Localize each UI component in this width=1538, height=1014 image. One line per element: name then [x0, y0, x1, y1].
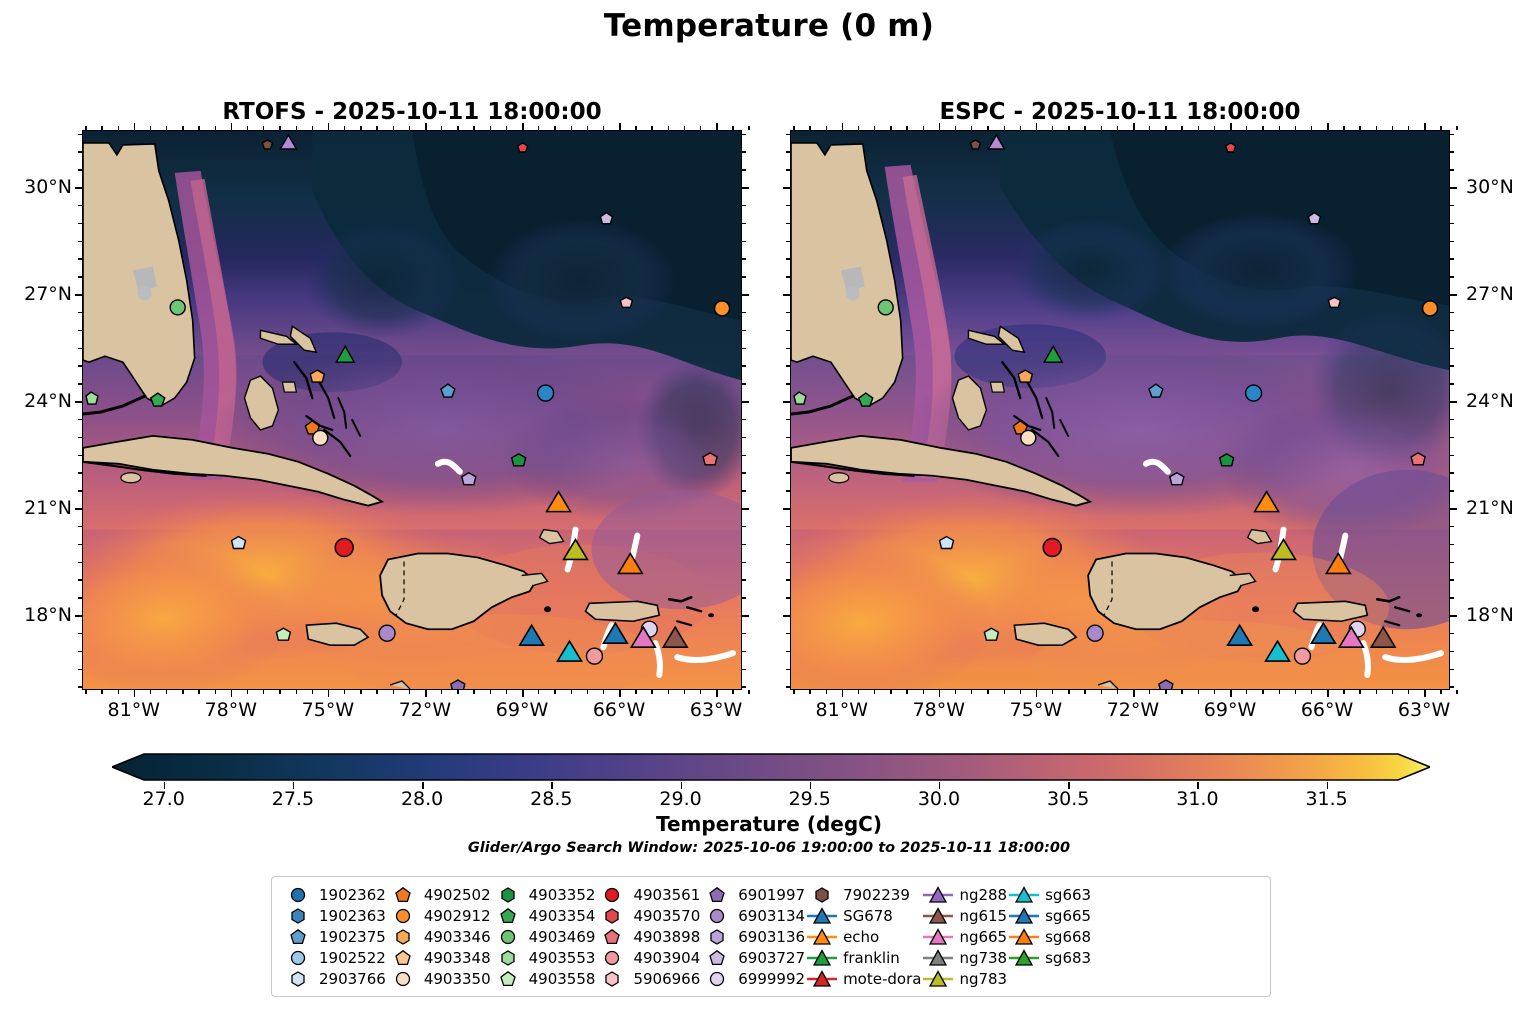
legend-item-4903352[interactable]: 4903352 — [491, 884, 596, 905]
x-minor-tick-top — [1262, 126, 1263, 130]
y-minor-tick-right — [742, 330, 746, 331]
pentagon-marker-icon — [700, 884, 734, 905]
y-minor-tick — [78, 169, 82, 170]
x-minor-tick-top — [1020, 126, 1021, 130]
x-major-tick-top — [716, 123, 718, 130]
x-axis-label: 78°W — [186, 699, 276, 721]
y-minor-tick — [78, 258, 82, 259]
y-minor-tick-right — [1450, 686, 1454, 687]
y-minor-tick-right — [1450, 205, 1454, 206]
x-major-tick — [1230, 690, 1232, 697]
x-major-tick — [1036, 690, 1038, 697]
legend-item-label: 4903354 — [525, 907, 596, 925]
pentagon-marker-icon — [491, 968, 525, 989]
x-minor-tick-top — [312, 126, 313, 130]
x-minor-tick — [793, 690, 794, 694]
x-minor-tick-top — [1440, 126, 1441, 130]
espc-map-svg — [791, 131, 1449, 689]
legend-item-label: sg683 — [1041, 949, 1091, 967]
y-minor-tick — [786, 686, 790, 687]
y-minor-tick — [78, 383, 82, 384]
circle-marker-icon — [386, 905, 420, 926]
colorbar-tick-label: 28.5 — [506, 788, 596, 810]
legend-item-label: 5906966 — [629, 970, 700, 988]
colorbar-tick-label: 30.0 — [894, 788, 984, 810]
legend-item-4903561[interactable]: 4903561 — [595, 884, 700, 905]
legend-item-label: 4903352 — [525, 886, 596, 904]
x-minor-tick-top — [198, 126, 199, 130]
legend-item-4902912[interactable]: 4902912 — [386, 905, 491, 926]
pentagon-marker-icon — [595, 926, 629, 947]
y-minor-tick — [786, 562, 790, 563]
x-minor-tick-top — [457, 126, 458, 130]
legend-item-4903348[interactable]: 4903348 — [386, 947, 491, 968]
y-minor-tick-right — [1450, 134, 1454, 135]
x-minor-tick-top — [1149, 126, 1150, 130]
triangle-marker-icon — [1007, 926, 1041, 947]
x-minor-tick-top — [1311, 126, 1312, 130]
x-minor-tick — [182, 690, 183, 694]
legend-item-label: sg668 — [1041, 928, 1091, 946]
x-minor-tick — [1392, 690, 1393, 694]
x-minor-tick — [603, 690, 604, 694]
y-minor-tick-right — [1450, 169, 1454, 170]
triangle-marker-icon — [805, 905, 839, 926]
x-minor-tick-top — [1408, 126, 1409, 130]
x-minor-tick-top — [279, 126, 280, 130]
x-minor-tick-top — [150, 126, 151, 130]
y-major-tick-right — [1450, 401, 1457, 403]
y-minor-tick — [786, 151, 790, 152]
triangle-marker-icon — [805, 947, 839, 968]
y-minor-tick — [78, 472, 82, 473]
legend-item-label: ng615 — [955, 907, 1007, 925]
legend-item-4903350[interactable]: 4903350 — [386, 968, 491, 989]
x-minor-tick-top — [987, 126, 988, 130]
y-minor-tick — [78, 205, 82, 206]
x-minor-tick — [571, 690, 572, 694]
y-minor-tick — [786, 579, 790, 580]
y-minor-tick-right — [1450, 526, 1454, 527]
legend-item-sg668[interactable]: sg668 — [1007, 926, 1091, 947]
y-minor-tick-right — [1450, 348, 1454, 349]
y-minor-tick — [786, 455, 790, 456]
x-minor-tick — [1198, 690, 1199, 694]
y-minor-tick — [786, 169, 790, 170]
x-minor-tick — [198, 690, 199, 694]
x-minor-tick-top — [1376, 126, 1377, 130]
y-minor-tick — [78, 669, 82, 670]
x-major-tick-top — [619, 123, 621, 130]
y-minor-tick — [786, 205, 790, 206]
map-panel-rtofs[interactable] — [82, 130, 742, 690]
legend-item-ng783[interactable]: ng783 — [921, 968, 1007, 989]
legend-item-label: ng783 — [955, 970, 1007, 988]
x-minor-tick-top — [1295, 126, 1296, 130]
legend-item-ng615[interactable]: ng615 — [921, 905, 1007, 926]
legend-item-sg683[interactable]: sg683 — [1007, 947, 1091, 968]
y-minor-tick — [78, 241, 82, 242]
x-minor-tick-top — [296, 126, 297, 130]
y-minor-tick — [786, 490, 790, 491]
x-minor-tick — [1359, 690, 1360, 694]
x-minor-tick-top — [409, 126, 410, 130]
y-minor-tick — [78, 330, 82, 331]
legend-item-label: mote-dora — [839, 970, 921, 988]
y-minor-tick-right — [742, 544, 746, 545]
triangle-marker-icon — [921, 968, 955, 989]
y-minor-tick-right — [742, 205, 746, 206]
y-major-tick-right — [1450, 187, 1457, 189]
x-minor-tick — [409, 690, 410, 694]
legend-item-label: SG678 — [839, 907, 893, 925]
x-axis-label: 78°W — [894, 699, 984, 721]
x-minor-tick — [1101, 690, 1102, 694]
legend-item-4903558[interactable]: 4903558 — [491, 968, 596, 989]
x-minor-tick — [651, 690, 652, 694]
y-minor-tick — [786, 544, 790, 545]
x-minor-tick — [1408, 690, 1409, 694]
y-minor-tick-right — [1450, 330, 1454, 331]
y-major-tick — [75, 508, 82, 510]
y-major-tick — [783, 615, 790, 617]
legend-item-sg678[interactable]: SG678 — [805, 905, 921, 926]
y-minor-tick-right — [742, 258, 746, 259]
legend-item-1902363[interactable]: 1902363 — [281, 905, 386, 926]
colorbar-title: Temperature (degC) — [0, 812, 1538, 836]
legend-item-4903570[interactable]: 4903570 — [595, 905, 700, 926]
x-minor-tick-top — [1004, 126, 1005, 130]
y-major-tick-right — [742, 401, 749, 403]
x-minor-tick — [1052, 690, 1053, 694]
y-minor-tick-right — [1450, 241, 1454, 242]
hexagon-marker-icon — [386, 926, 420, 947]
hexagon-marker-icon — [700, 926, 734, 947]
legend-item-4903346[interactable]: 4903346 — [386, 926, 491, 947]
legend-item-label: 4902502 — [420, 886, 491, 904]
y-minor-tick-right — [742, 276, 746, 277]
x-axis-label: 66°W — [574, 699, 664, 721]
x-axis-label: 75°W — [991, 699, 1081, 721]
x-minor-tick-top — [971, 126, 972, 130]
x-major-tick — [1424, 690, 1426, 697]
y-major-tick-right — [742, 187, 749, 189]
y-axis-label-left: 18°N — [0, 604, 72, 626]
triangle-marker-icon — [921, 926, 955, 947]
circle-marker-icon — [491, 926, 525, 947]
x-minor-tick-top — [668, 126, 669, 130]
y-minor-tick-right — [742, 383, 746, 384]
pentagon-marker-icon — [386, 884, 420, 905]
x-axis-label: 72°W — [1088, 699, 1178, 721]
y-minor-tick — [786, 597, 790, 598]
x-minor-tick — [101, 690, 102, 694]
circle-marker-icon — [700, 905, 734, 926]
x-major-tick-top — [1424, 123, 1426, 130]
legend-item-6999992[interactable]: 6999992 — [700, 968, 805, 989]
legend-item-6901997[interactable]: 6901997 — [700, 884, 805, 905]
x-minor-tick-top — [793, 126, 794, 130]
y-minor-tick-right — [742, 348, 746, 349]
hexagon-marker-icon — [491, 884, 525, 905]
hexagon-marker-icon — [281, 905, 315, 926]
y-minor-tick — [786, 223, 790, 224]
legend-item-1902522[interactable]: 1902522 — [281, 947, 386, 968]
legend-item-label: 4903469 — [525, 928, 596, 946]
y-minor-tick — [786, 669, 790, 670]
x-minor-tick — [166, 690, 167, 694]
y-minor-tick — [78, 419, 82, 420]
legend-item-mote-dora[interactable]: mote-dora — [805, 968, 921, 989]
y-minor-tick — [786, 651, 790, 652]
legend-item-label: 4903561 — [629, 886, 700, 904]
x-minor-tick-top — [1181, 126, 1182, 130]
x-minor-tick-top — [826, 126, 827, 130]
legend-item-sg663[interactable]: sg663 — [1007, 884, 1091, 905]
legend-item-label: 4903348 — [420, 949, 491, 967]
x-minor-tick — [118, 690, 119, 694]
x-minor-tick-top — [1456, 126, 1457, 130]
y-minor-tick — [786, 134, 790, 135]
x-minor-tick — [955, 690, 956, 694]
y-minor-tick — [786, 276, 790, 277]
x-minor-tick-top — [101, 126, 102, 130]
x-major-tick — [1327, 690, 1329, 697]
x-minor-tick — [473, 690, 474, 694]
legend-item-label: 4903898 — [629, 928, 700, 946]
x-axis-label: 63°W — [671, 699, 761, 721]
x-major-tick — [939, 690, 941, 697]
map-panel-espc[interactable] — [790, 130, 1450, 690]
y-major-tick-right — [1450, 508, 1457, 510]
y-major-tick-right — [742, 508, 749, 510]
y-axis-label-right: 21°N — [1466, 497, 1538, 519]
x-minor-tick — [457, 690, 458, 694]
y-minor-tick — [78, 562, 82, 563]
x-minor-tick — [858, 690, 859, 694]
y-minor-tick-right — [742, 633, 746, 634]
y-minor-tick-right — [1450, 419, 1454, 420]
x-minor-tick-top — [858, 126, 859, 130]
legend-item-4903904[interactable]: 4903904 — [595, 947, 700, 968]
legend-item-5906966[interactable]: 5906966 — [595, 968, 700, 989]
legend-column: 69019976903134690313669037276999992 — [700, 884, 805, 989]
y-minor-tick — [786, 437, 790, 438]
x-major-tick — [425, 690, 427, 697]
x-major-tick-top — [134, 123, 136, 130]
legend-item-2903766[interactable]: 2903766 — [281, 968, 386, 989]
x-minor-tick — [748, 690, 749, 694]
y-minor-tick — [786, 312, 790, 313]
legend-item-label: 4903570 — [629, 907, 700, 925]
x-minor-tick — [890, 690, 891, 694]
x-minor-tick-top — [1068, 126, 1069, 130]
pentagon-marker-icon — [386, 947, 420, 968]
x-minor-tick — [1456, 690, 1457, 694]
legend[interactable]: 1902362190236319023751902522290376649025… — [271, 876, 1271, 997]
x-minor-tick-top — [554, 126, 555, 130]
x-minor-tick — [506, 690, 507, 694]
y-minor-tick-right — [742, 455, 746, 456]
y-minor-tick-right — [1450, 490, 1454, 491]
x-minor-tick-top — [1214, 126, 1215, 130]
legend-item-4903354[interactable]: 4903354 — [491, 905, 596, 926]
legend-item-label: 4903904 — [629, 949, 700, 967]
y-minor-tick-right — [742, 241, 746, 242]
y-major-tick — [75, 187, 82, 189]
legend-item-label: 1902375 — [315, 928, 386, 946]
legend-item-label: 4903553 — [525, 949, 596, 967]
legend-item-label: 1902362 — [315, 886, 386, 904]
y-minor-tick — [78, 490, 82, 491]
panel-title-espc: ESPC - 2025-10-11 18:00:00 — [790, 99, 1450, 125]
y-major-tick — [783, 294, 790, 296]
legend-item-label: 1902363 — [315, 907, 386, 925]
x-minor-tick-top — [955, 126, 956, 130]
panel-title-rtofs: RTOFS - 2025-10-11 18:00:00 — [82, 99, 742, 125]
y-minor-tick-right — [742, 437, 746, 438]
legend-item-6903727[interactable]: 6903727 — [700, 947, 805, 968]
x-major-tick — [1133, 690, 1135, 697]
legend-item-4902502[interactable]: 4902502 — [386, 884, 491, 905]
y-minor-tick-right — [742, 419, 746, 420]
legend-item-label: 4903346 — [420, 928, 491, 946]
x-minor-tick — [874, 690, 875, 694]
x-minor-tick — [1149, 690, 1150, 694]
x-minor-tick — [987, 690, 988, 694]
x-axis-label: 63°W — [1379, 699, 1469, 721]
x-minor-tick — [279, 690, 280, 694]
legend-item-4903898[interactable]: 4903898 — [595, 926, 700, 947]
x-minor-tick-top — [376, 126, 377, 130]
legend-item-label: 7902239 — [839, 886, 910, 904]
y-minor-tick-right — [742, 134, 746, 135]
colorbar-tick-label: 31.0 — [1152, 788, 1242, 810]
y-minor-tick-right — [742, 169, 746, 170]
circle-marker-icon — [386, 968, 420, 989]
x-minor-tick — [1262, 690, 1263, 694]
x-minor-tick — [1117, 690, 1118, 694]
legend-item-7902239[interactable]: 7902239 — [805, 884, 921, 905]
legend-item-sg665[interactable]: sg665 — [1007, 905, 1091, 926]
x-major-tick — [328, 690, 330, 697]
x-minor-tick-top — [263, 126, 264, 130]
y-axis-label-right: 27°N — [1466, 283, 1538, 305]
x-minor-tick — [826, 690, 827, 694]
x-minor-tick — [538, 690, 539, 694]
x-minor-tick-top — [506, 126, 507, 130]
x-minor-tick — [393, 690, 394, 694]
y-major-tick — [75, 294, 82, 296]
y-minor-tick — [78, 579, 82, 580]
y-minor-tick — [78, 686, 82, 687]
x-major-tick-top — [1230, 123, 1232, 130]
x-minor-tick-top — [85, 126, 86, 130]
hexagon-marker-icon — [805, 884, 839, 905]
legend-item-label: 4903558 — [525, 970, 596, 988]
colorbar-tick-label: 28.0 — [377, 788, 467, 810]
legend-item-label: 6903134 — [734, 907, 805, 925]
x-minor-tick-top — [1052, 126, 1053, 130]
x-minor-tick — [732, 690, 733, 694]
triangle-marker-icon — [921, 884, 955, 905]
y-minor-tick-right — [742, 312, 746, 313]
legend-item-label: 4903350 — [420, 970, 491, 988]
y-minor-tick-right — [742, 151, 746, 152]
x-minor-tick-top — [874, 126, 875, 130]
x-minor-tick-top — [1392, 126, 1393, 130]
hexagon-marker-icon — [491, 947, 525, 968]
y-minor-tick — [786, 365, 790, 366]
legend-item-6903134[interactable]: 6903134 — [700, 905, 805, 926]
x-minor-tick — [85, 690, 86, 694]
legend-item-1902362[interactable]: 1902362 — [281, 884, 386, 905]
y-minor-tick-right — [1450, 633, 1454, 634]
x-minor-tick — [554, 690, 555, 694]
x-minor-tick — [1165, 690, 1166, 694]
y-minor-tick-right — [1450, 472, 1454, 473]
y-minor-tick — [78, 437, 82, 438]
legend-item-4903469[interactable]: 4903469 — [491, 926, 596, 947]
x-minor-tick — [1311, 690, 1312, 694]
legend-item-ng738[interactable]: ng738 — [921, 947, 1007, 968]
x-axis-label: 69°W — [1185, 699, 1275, 721]
y-minor-tick — [78, 151, 82, 152]
x-minor-tick — [684, 690, 685, 694]
y-axis-label-left: 30°N — [0, 176, 72, 198]
colorbar-tick-label: 30.5 — [1023, 788, 1113, 810]
y-minor-tick-right — [1450, 597, 1454, 598]
x-minor-tick-top — [360, 126, 361, 130]
y-minor-tick-right — [1450, 579, 1454, 580]
y-minor-tick-right — [1450, 544, 1454, 545]
y-minor-tick-right — [1450, 151, 1454, 152]
x-major-tick — [134, 690, 136, 697]
x-minor-tick-top — [809, 126, 810, 130]
legend-item-echo[interactable]: echo — [805, 926, 921, 947]
legend-item-ng288[interactable]: ng288 — [921, 884, 1007, 905]
y-axis-label-left: 27°N — [0, 283, 72, 305]
legend-item-4903553[interactable]: 4903553 — [491, 947, 596, 968]
x-major-tick — [716, 690, 718, 697]
legend-item-6903136[interactable]: 6903136 — [700, 926, 805, 947]
x-minor-tick — [360, 690, 361, 694]
x-minor-tick-top — [748, 126, 749, 130]
y-minor-tick-right — [742, 223, 746, 224]
x-axis-label: 81°W — [797, 699, 887, 721]
legend-item-1902375[interactable]: 1902375 — [281, 926, 386, 947]
x-minor-tick-top — [1279, 126, 1280, 130]
y-minor-tick-right — [742, 490, 746, 491]
x-minor-tick — [150, 690, 151, 694]
x-minor-tick — [906, 690, 907, 694]
x-minor-tick — [1020, 690, 1021, 694]
circle-marker-icon — [281, 947, 315, 968]
y-axis-label-right: 18°N — [1466, 604, 1538, 626]
circle-marker-icon — [700, 968, 734, 989]
legend-item-label: franklin — [839, 949, 900, 967]
x-major-tick-top — [1327, 123, 1329, 130]
x-major-tick — [619, 690, 621, 697]
x-major-tick-top — [231, 123, 233, 130]
y-minor-tick-right — [1450, 258, 1454, 259]
legend-item-franklin[interactable]: franklin — [805, 947, 921, 968]
legend-item-ng665[interactable]: ng665 — [921, 926, 1007, 947]
figure-title: Temperature (0 m) — [0, 8, 1538, 44]
x-minor-tick-top — [538, 126, 539, 130]
legend-item-label: ng665 — [955, 928, 1007, 946]
y-major-tick-right — [742, 294, 749, 296]
